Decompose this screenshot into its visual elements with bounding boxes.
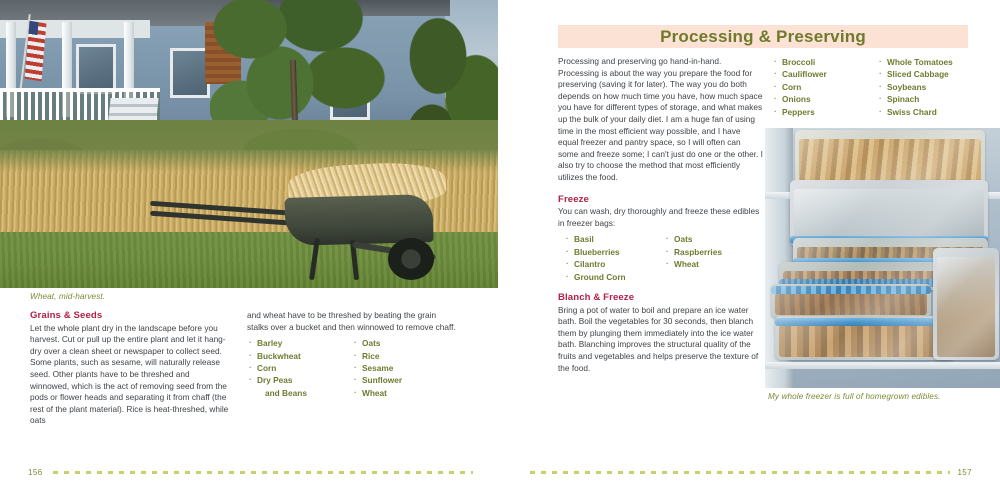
- photo-window: [170, 48, 210, 98]
- footer-right: 157: [527, 466, 972, 478]
- freeze-paragraph: You can wash, dry thoroughly and freeze …: [558, 206, 763, 229]
- list-item: Raspberries: [664, 246, 759, 258]
- list-item: Wheat: [352, 387, 452, 399]
- grains-bullets-right: Oats Rice Sesame Sunflower Wheat: [352, 337, 452, 399]
- photo-wheelbarrow-wheel: [388, 238, 434, 280]
- freeze-bullet-grid: Basil Blueberries Cilantro Ground Corn O…: [558, 229, 763, 283]
- photo-window: [76, 44, 116, 94]
- list-item-continuation: and Beans: [247, 387, 352, 399]
- left-column-one: Grains & Seeds Let the whole plant dry i…: [30, 310, 230, 427]
- page-left: Wheat, mid-harvest. Grains & Seeds Let t…: [0, 0, 500, 500]
- list-item: Buckwheat: [247, 350, 352, 362]
- list-item: Barley: [247, 337, 352, 349]
- list-item: Sesame: [352, 362, 452, 374]
- photo-bag-contents: [775, 293, 927, 315]
- freezer-bags-photo: [765, 128, 1000, 388]
- list-item: Onions: [772, 93, 877, 105]
- photo-freezer-bag: [790, 180, 988, 246]
- list-item: Blueberries: [564, 246, 664, 258]
- footer-left: 156: [28, 466, 473, 478]
- left-column-two: and wheat have to be threshed by beating…: [247, 310, 457, 399]
- grains-continued-paragraph: and wheat have to be threshed by beating…: [247, 310, 457, 333]
- garden-wheelbarrow-photo: [0, 0, 498, 288]
- grains-bullet-grid: Barley Buckwheat Corn Dry Peas and Beans…: [247, 333, 457, 399]
- grains-and-seeds-heading: Grains & Seeds: [30, 310, 230, 322]
- list-item: Dry Peas: [247, 374, 352, 386]
- photo-freezer-shelf: [765, 362, 1000, 369]
- freeze-heading: Freeze: [558, 194, 763, 206]
- preserve-bullets-left: Broccoli Cauliflower Corn Onions Peppers: [772, 56, 877, 118]
- photo-bag-zipper: [775, 318, 955, 326]
- preserve-bullet-grid: Broccoli Cauliflower Corn Onions Peppers…: [772, 56, 987, 118]
- list-item: Soybeans: [877, 81, 987, 93]
- garden-photo-caption: Wheat, mid-harvest.: [30, 292, 105, 301]
- blanch-paragraph: Bring a pot of water to boil and prepare…: [558, 305, 763, 375]
- list-item: Spinach: [877, 93, 987, 105]
- freezer-photo-caption: My whole freezer is full of homegrown ed…: [768, 392, 941, 401]
- list-item: Sunflower: [352, 374, 452, 386]
- photo-bag-contents: [779, 325, 951, 357]
- list-item: Sliced Cabbage: [877, 68, 987, 80]
- photo-freezer-bag: [933, 248, 999, 360]
- list-item: Oats: [664, 233, 759, 245]
- list-item: Broccoli: [772, 56, 877, 68]
- list-item: Rice: [352, 350, 452, 362]
- list-item: Swiss Chard: [877, 106, 987, 118]
- photo-freezer-bag: [775, 316, 955, 360]
- list-item: Corn: [247, 362, 352, 374]
- photo-bag-contents: [794, 189, 984, 243]
- right-column-one: Processing and preserving go hand-in-han…: [558, 56, 763, 374]
- list-item: Cauliflower: [772, 68, 877, 80]
- page-number-left: 156: [28, 468, 43, 477]
- grains-and-seeds-paragraph: Let the whole plant dry in the landscape…: [30, 323, 230, 427]
- book-spread: Wheat, mid-harvest. Grains & Seeds Let t…: [0, 0, 1000, 500]
- page-number-right: 157: [957, 468, 972, 477]
- footer-dot-rule: [50, 471, 473, 474]
- list-item: Oats: [352, 337, 452, 349]
- grains-bullets-left: Barley Buckwheat Corn Dry Peas and Beans: [247, 337, 352, 399]
- page-right: Processing & Preserving Processing and p…: [500, 0, 1000, 500]
- page-title: Processing & Preserving: [558, 25, 968, 48]
- freeze-bullets-right: Oats Raspberries Wheat: [664, 233, 759, 283]
- photo-freezer-bag: [771, 284, 931, 318]
- list-item: Corn: [772, 81, 877, 93]
- list-item: Cilantro: [564, 258, 664, 270]
- list-item: Wheat: [664, 258, 759, 270]
- photo-bag-contents: [937, 257, 995, 357]
- footer-dot-rule: [527, 471, 950, 474]
- blanch-and-freeze-heading: Blanch & Freeze: [558, 292, 763, 304]
- list-item: Basil: [564, 233, 664, 245]
- list-item: Peppers: [772, 106, 877, 118]
- photo-bag-zipper: [771, 286, 931, 294]
- right-column-two: Broccoli Cauliflower Corn Onions Peppers…: [772, 56, 987, 118]
- preserve-bullets-right: Whole Tomatoes Sliced Cabbage Soybeans S…: [877, 56, 987, 118]
- intro-paragraph: Processing and preserving go hand-in-han…: [558, 56, 763, 184]
- list-item: Whole Tomatoes: [877, 56, 987, 68]
- list-item: Ground Corn: [564, 271, 664, 283]
- freeze-bullets-left: Basil Blueberries Cilantro Ground Corn: [564, 233, 664, 283]
